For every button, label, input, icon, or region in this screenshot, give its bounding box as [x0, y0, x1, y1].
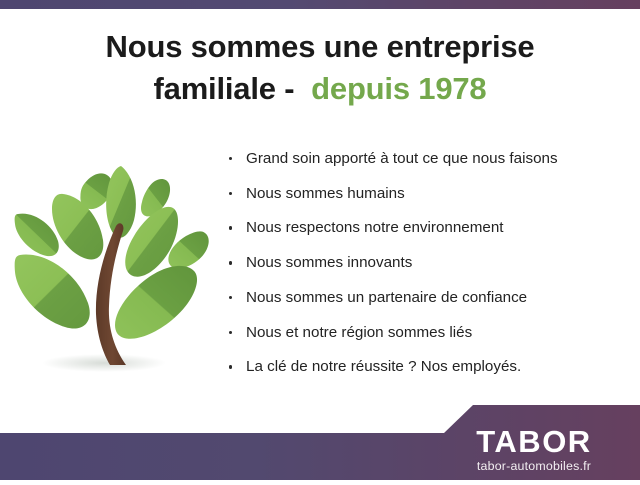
headline-line-2-prefix: familiale — [154, 71, 276, 106]
list-item: Nous sommes un partenaire de confiance — [226, 289, 626, 307]
bullet-dot-icon — [229, 331, 232, 334]
tree-illustration — [8, 148, 220, 392]
headline-dash: - — [276, 71, 311, 106]
bullet-dot-icon — [229, 226, 232, 229]
list-item-label: Nous sommes innovants — [246, 254, 412, 271]
top-accent-bar — [0, 0, 640, 9]
bullet-dot-icon — [229, 192, 232, 195]
list-item-label: Nous et notre région sommes liés — [246, 324, 472, 341]
tree-shadow — [42, 354, 166, 372]
bullet-dot-icon — [229, 261, 232, 264]
bullet-dot-icon — [229, 365, 232, 368]
list-item-label: Nous sommes humains — [246, 185, 405, 202]
headline-line-1: Nous sommes une entreprise — [40, 26, 600, 68]
list-item: Nous sommes humains — [226, 185, 626, 203]
list-item-label: La clé de notre réussite ? Nos employés. — [246, 358, 521, 375]
list-item: Nous respectons notre environnement — [226, 219, 626, 237]
slide-canvas: Nous sommes une entreprise familiale - d… — [0, 0, 640, 480]
list-item: Nous et notre région sommes liés — [226, 324, 626, 342]
list-item-label: Grand soin apporté à tout ce que nous fa… — [246, 150, 558, 167]
list-item: La clé de notre réussite ? Nos employés. — [226, 358, 626, 376]
list-item-label: Nous respectons notre environnement — [246, 219, 504, 236]
bullet-dot-icon — [229, 296, 232, 299]
footer-shape — [0, 405, 640, 480]
benefits-list: Grand soin apporté à tout ce que nous fa… — [226, 150, 626, 393]
page-title: Nous sommes une entreprise familiale - d… — [40, 26, 600, 110]
list-item: Grand soin apporté à tout ce que nous fa… — [226, 150, 626, 168]
brand-url: tabor-automobiles.fr — [446, 460, 622, 472]
brand-logo: TABOR tabor-automobiles.fr — [446, 426, 622, 472]
brand-name: TABOR — [446, 426, 622, 457]
headline-line-2: familiale - depuis 1978 — [40, 68, 600, 110]
list-item-label: Nous sommes un partenaire de confiance — [246, 289, 527, 306]
list-item: Nous sommes innovants — [226, 254, 626, 272]
bullet-dot-icon — [229, 157, 232, 160]
headline-accent: depuis 1978 — [311, 71, 486, 106]
